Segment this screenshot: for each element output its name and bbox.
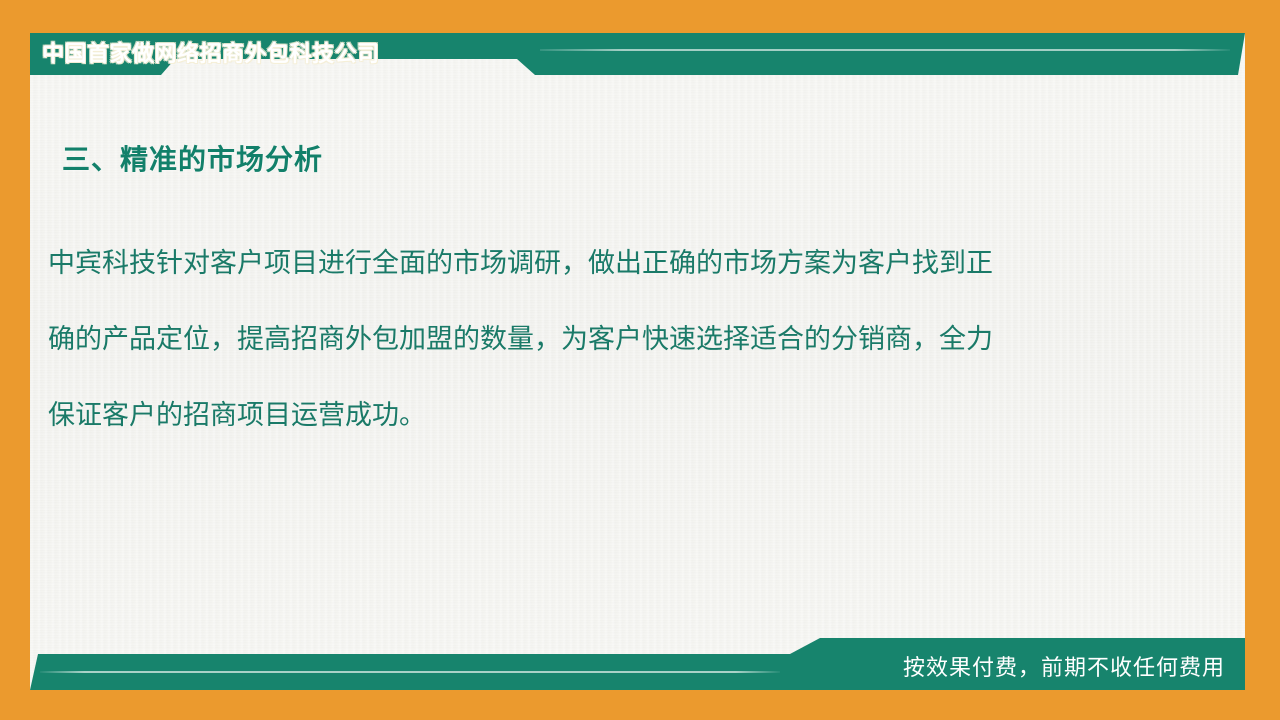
paragraph-line: 中宾科技针对客户项目进行全面的市场调研，做出正确的市场方案为客户找到正 bbox=[48, 226, 1188, 302]
orange-frame-bottom bbox=[0, 690, 1280, 720]
footer-accent-line bbox=[40, 671, 780, 673]
footer-tagline: 按效果付费，前期不收任何费用 bbox=[903, 650, 1225, 682]
company-slogan-title: 中国首家做网络招商外包科技公司 bbox=[42, 36, 380, 68]
body-paragraph: 中宾科技针对客户项目进行全面的市场调研，做出正确的市场方案为客户找到正 确的产品… bbox=[48, 226, 1188, 454]
orange-frame-left bbox=[0, 0, 30, 720]
paragraph-line: 保证客户的招商项目运营成功。 bbox=[48, 378, 1188, 454]
orange-frame-top bbox=[0, 0, 1280, 33]
section-heading: 三、精准的市场分析 bbox=[62, 138, 323, 178]
presentation-slide: 中国首家做网络招商外包科技公司 三、精准的市场分析 中宾科技针对客户项目进行全面… bbox=[0, 0, 1280, 720]
orange-frame-right bbox=[1245, 0, 1280, 720]
header-accent-line bbox=[540, 49, 1230, 51]
paragraph-line: 确的产品定位，提高招商外包加盟的数量，为客户快速选择适合的分销商，全力 bbox=[48, 302, 1188, 378]
